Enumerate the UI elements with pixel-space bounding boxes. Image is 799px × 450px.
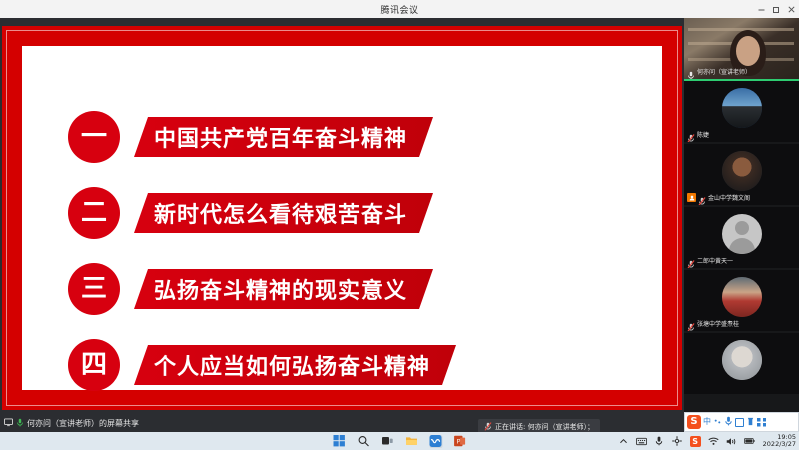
punctuation-icon[interactable] xyxy=(713,417,722,428)
agenda-number: 二 xyxy=(68,187,120,239)
participant-tile[interactable]: 二郎中黄天一 xyxy=(684,207,799,270)
agenda-label: 中国共产党百年奋斗精神 xyxy=(154,121,407,153)
agenda-item: 一 中国共产党百年奋斗精神 xyxy=(56,112,628,162)
mic-muted-icon xyxy=(687,319,695,328)
start-button[interactable] xyxy=(333,435,346,448)
sogou-ime-bar[interactable]: S 中 xyxy=(684,412,799,432)
toolbox-icon[interactable] xyxy=(757,418,766,427)
battery-icon[interactable] xyxy=(744,436,755,447)
taskbar-apps: P xyxy=(333,435,466,448)
settings-icon[interactable] xyxy=(672,436,683,447)
shared-screen-region: 一 中国共产党百年奋斗精神 二 新时代怎么看待艰苦奋斗 xyxy=(0,18,684,414)
wifi-icon[interactable] xyxy=(708,436,719,447)
participant-name: 何亦问（宣讲老师） xyxy=(697,67,751,76)
agenda-item: 三 弘扬奋斗精神的现实意义 xyxy=(56,264,628,314)
participant-tile[interactable] xyxy=(684,333,799,396)
participant-strip[interactable]: 何亦问（宣讲老师） 陈婕 xyxy=(684,18,799,432)
host-badge-icon xyxy=(687,193,696,202)
avatar xyxy=(722,340,762,380)
agenda-item: 二 新时代怎么看待艰苦奋斗 xyxy=(56,188,628,238)
system-tray: S 19:05 2022/3/27 xyxy=(618,434,796,448)
speaking-toast-text: 正在讲话: 何亦问（宣讲老师）； xyxy=(495,422,594,432)
sogou-tray-icon[interactable]: S xyxy=(690,436,701,447)
participant-name: 张塘中学盛焘桂 xyxy=(697,319,739,328)
tencent-meeting-window: 腾讯会议 一 xyxy=(0,0,799,450)
agenda-label: 弘扬奋斗精神的现实意义 xyxy=(154,273,407,305)
agenda-item: 四 个人应当如何弘扬奋斗精神 xyxy=(56,340,628,390)
mic-muted-icon xyxy=(687,256,695,265)
participant-name: 金山中学魏文阁 xyxy=(708,193,750,202)
agenda-number: 四 xyxy=(68,339,120,391)
agenda-banner: 中国共产党百年奋斗精神 xyxy=(134,117,433,157)
participant-name: 二郎中黄天一 xyxy=(697,256,733,265)
mic-muted-icon xyxy=(687,130,695,139)
avatar xyxy=(722,214,762,254)
window-controls xyxy=(754,0,799,18)
soft-keyboard-icon[interactable] xyxy=(735,418,744,427)
agenda-banner: 新时代怎么看待艰苦奋斗 xyxy=(134,193,433,233)
svg-text:P: P xyxy=(457,438,461,446)
agenda-list: 一 中国共产党百年奋斗精神 二 新时代怎么看待艰苦奋斗 xyxy=(56,98,628,350)
slide-canvas: 一 中国共产党百年奋斗精神 二 新时代怎么看待艰苦奋斗 xyxy=(22,46,662,390)
tencent-meeting-icon[interactable] xyxy=(429,435,442,448)
chinese-mode-icon[interactable]: 中 xyxy=(703,418,711,426)
participant-tile[interactable]: 陈婕 xyxy=(684,81,799,144)
agenda-banner: 弘扬奋斗精神的现实意义 xyxy=(134,269,433,309)
microphone-icon xyxy=(687,67,695,76)
presentation-slide: 一 中国共产党百年奋斗精神 二 新时代怎么看待艰苦奋斗 xyxy=(2,26,682,410)
avatar xyxy=(722,277,762,317)
minimize-button[interactable] xyxy=(754,0,769,18)
title-bar: 腾讯会议 xyxy=(0,0,799,18)
microphone-icon xyxy=(16,414,24,432)
search-icon[interactable] xyxy=(357,435,370,448)
window-title: 腾讯会议 xyxy=(380,3,418,16)
voice-input-icon[interactable] xyxy=(724,416,733,428)
restore-button[interactable] xyxy=(769,0,784,18)
participant-tile[interactable]: 金山中学魏文阁 xyxy=(684,144,799,207)
participant-name-row: 张塘中学盛焘桂 xyxy=(687,319,739,328)
person-face xyxy=(736,36,760,66)
avatar xyxy=(722,88,762,128)
powerpoint-icon[interactable]: P xyxy=(453,435,466,448)
close-button[interactable] xyxy=(784,0,799,18)
participant-name-row: 二郎中黄天一 xyxy=(687,256,733,265)
volume-icon[interactable] xyxy=(726,436,737,447)
participant-name: 陈婕 xyxy=(697,130,709,139)
meeting-body: 一 中国共产党百年奋斗精神 二 新时代怎么看待艰苦奋斗 xyxy=(0,18,799,432)
monitor-icon xyxy=(4,414,13,432)
agenda-number: 三 xyxy=(68,263,120,315)
agenda-number: 一 xyxy=(68,111,120,163)
participant-name-row: 何亦问（宣讲老师） xyxy=(687,67,751,76)
windows-taskbar: P S xyxy=(0,432,799,450)
keyboard-icon[interactable] xyxy=(636,436,647,447)
participant-tile[interactable]: 张塘中学盛焘桂 xyxy=(684,270,799,333)
file-explorer-icon[interactable] xyxy=(405,435,418,448)
share-status-text: 何亦问（宣讲老师）的屏幕共享 xyxy=(27,418,139,429)
participant-tile-speaker[interactable]: 何亦问（宣讲老师） xyxy=(684,18,799,81)
clock-date: 2022/3/27 xyxy=(763,441,796,448)
participant-name-row: 陈婕 xyxy=(687,130,709,139)
skin-icon[interactable] xyxy=(746,417,755,428)
show-hidden-icons-icon[interactable] xyxy=(618,436,629,447)
agenda-label: 新时代怎么看待艰苦奋斗 xyxy=(154,197,407,229)
agenda-banner: 个人应当如何弘扬奋斗精神 xyxy=(134,345,456,385)
task-view-icon[interactable] xyxy=(381,435,394,448)
participant-name-row: 金山中学魏文阁 xyxy=(687,193,750,202)
microphone-icon[interactable] xyxy=(654,436,665,447)
avatar xyxy=(722,151,762,191)
sogou-logo-icon[interactable]: S xyxy=(687,415,701,429)
taskbar-clock[interactable]: 19:05 2022/3/27 xyxy=(763,434,796,448)
agenda-label: 个人应当如何弘扬奋斗精神 xyxy=(154,349,430,381)
mic-muted-icon xyxy=(698,193,706,202)
